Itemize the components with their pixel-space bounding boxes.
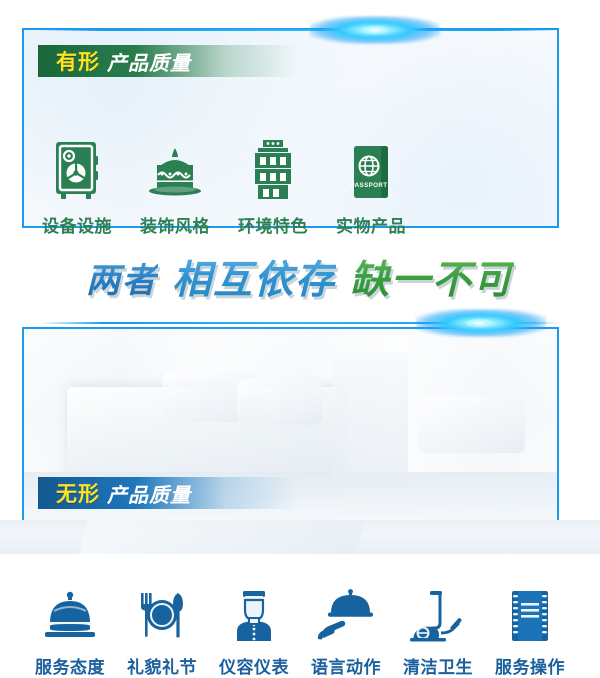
tangible-item-1[interactable]: 装饰风格 bbox=[126, 136, 224, 237]
intangible-chip-key: 无形 bbox=[56, 478, 100, 508]
banner-segment-2: 缺一不可 bbox=[350, 249, 514, 305]
intangible-item-4[interactable]: 清洁卫生 bbox=[392, 585, 484, 678]
intangible-item-label-0: 服务态度 bbox=[35, 653, 105, 678]
tangible-item-0[interactable]: 设备设施 bbox=[28, 136, 126, 237]
tangible-item-label-3: 实物产品 bbox=[336, 212, 406, 237]
tangible-chip-rest: 产品质量 bbox=[107, 47, 191, 76]
intangible-chip-rest: 产品质量 bbox=[107, 479, 191, 508]
svg-text:PASSPORT: PASSPORT bbox=[351, 182, 388, 189]
tangible-chip-key: 有形 bbox=[56, 46, 100, 76]
passport-icon: PASSPORT bbox=[348, 136, 394, 202]
spiral-manual-icon bbox=[504, 585, 556, 643]
tangible-section-label: 有形 产品质量 bbox=[38, 45, 298, 77]
photo-bleed-strip bbox=[0, 520, 600, 554]
intangible-item-5[interactable]: 服务操作 bbox=[484, 585, 576, 678]
banner-segment-1: 相互依存 bbox=[172, 249, 336, 305]
intangible-item-2[interactable]: 仪容仪表 bbox=[208, 585, 300, 678]
building-icon bbox=[249, 136, 297, 202]
vacuum-cleaner-icon bbox=[408, 585, 468, 643]
safe-vault-icon bbox=[52, 136, 102, 202]
tangible-item-label-0: 设备设施 bbox=[42, 212, 112, 237]
tangible-items-row: 设备设施 装饰风格 bbox=[28, 136, 548, 237]
intangible-item-label-3: 语言动作 bbox=[311, 653, 381, 678]
intangible-items-row: 服务态度 礼貌礼节 bbox=[24, 585, 576, 678]
intangible-item-3[interactable]: 语言动作 bbox=[300, 585, 392, 678]
intangible-item-label-1: 礼貌礼节 bbox=[127, 653, 197, 678]
glow-hotspot bbox=[466, 319, 492, 327]
serving-tray-hand-icon bbox=[316, 585, 376, 643]
intangible-item-0[interactable]: 服务态度 bbox=[24, 585, 116, 678]
intangible-item-label-4: 清洁卫生 bbox=[403, 653, 473, 678]
tangible-item-2[interactable]: 环境特色 bbox=[224, 136, 322, 237]
tangible-item-label-2: 环境特色 bbox=[238, 212, 308, 237]
decorated-cake-icon bbox=[144, 136, 206, 202]
backdrop-pillow bbox=[237, 379, 322, 425]
tangible-item-label-1: 装饰风格 bbox=[140, 212, 210, 237]
intangible-item-label-2: 仪容仪表 bbox=[219, 653, 289, 678]
backdrop-pillow bbox=[418, 395, 525, 453]
intangible-section-label: 无形 产品质量 bbox=[38, 477, 298, 509]
intangible-item-1[interactable]: 礼貌礼节 bbox=[116, 585, 208, 678]
intangible-item-label-5: 服务操作 bbox=[495, 653, 565, 678]
service-bell-icon bbox=[41, 585, 99, 643]
glow-line bbox=[40, 322, 560, 324]
tangible-item-3[interactable]: PASSPORT 实物产品 bbox=[322, 136, 420, 237]
center-banner: 两者 相互依存 缺一不可 bbox=[0, 248, 600, 306]
bellhop-staff-icon bbox=[225, 585, 283, 643]
banner-segment-0: 两者 bbox=[86, 253, 158, 302]
plate-cutlery-icon bbox=[133, 585, 191, 643]
